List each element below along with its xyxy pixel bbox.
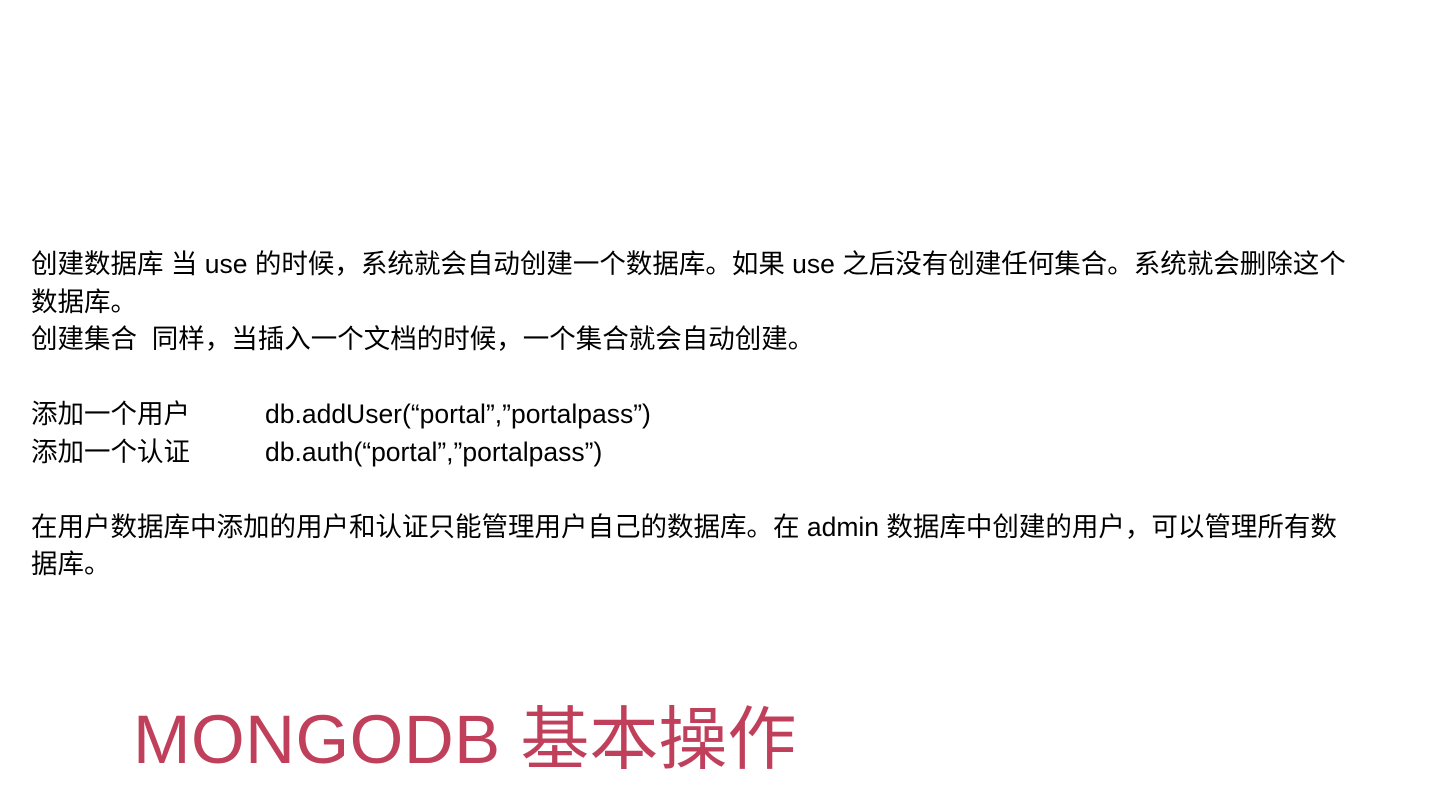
page-title: MONGODB 基本操作 [133, 700, 796, 780]
command-label: 添加一个用户 [31, 396, 265, 434]
command-code: db.auth(“portal”,”portalpass”) [265, 434, 1361, 472]
paragraph-spacer-1 [31, 359, 1361, 397]
command-row: 添加一个用户 db.addUser(“portal”,”portalpass”) [31, 396, 1361, 434]
note-paragraph: 在用户数据库中添加的用户和认证只能管理用户自己的数据库。在 admin 数据库中… [31, 509, 1361, 584]
paragraph-spacer-2 [31, 471, 1361, 509]
command-label: 添加一个认证 [31, 434, 265, 472]
page-title-latin: MONGODB [133, 701, 501, 778]
page-title-space [501, 701, 521, 778]
slide-body-content: 创建数据库 当 use 的时候，系统就会自动创建一个数据库。如果 use 之后没… [31, 246, 1361, 584]
intro-paragraph: 创建数据库 当 use 的时候，系统就会自动创建一个数据库。如果 use 之后没… [31, 246, 1361, 359]
command-row: 添加一个认证 db.auth(“portal”,”portalpass”) [31, 434, 1361, 472]
page-title-cjk: 基本操作 [520, 701, 796, 778]
command-code: db.addUser(“portal”,”portalpass”) [265, 396, 1361, 434]
slide-canvas: 创建数据库 当 use 的时候，系统就会自动创建一个数据库。如果 use 之后没… [0, 0, 1440, 810]
command-list: 添加一个用户 db.addUser(“portal”,”portalpass”)… [31, 396, 1361, 471]
